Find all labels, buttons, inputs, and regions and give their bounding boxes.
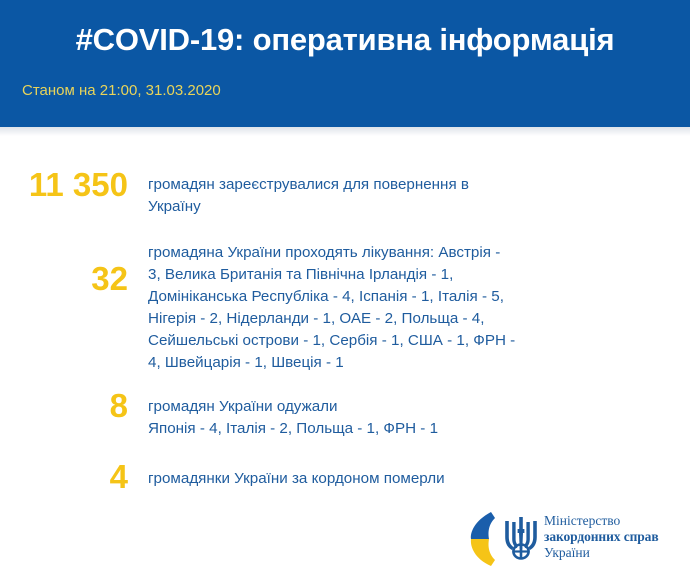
stat-line: громадян зареєструвалися для повернення … [148,174,672,196]
page-title: #COVID-19: оперативна інформація [0,22,690,58]
stat-line: Японія - 4, Італія - 2, Польща - 1, ФРН … [148,418,672,440]
stat-line: 4, Швейцарія - 1, Швеція - 1 [148,352,672,374]
mfa-logo-line-1: Міністерство [544,513,684,529]
stat-line: громадяна України проходять лікування: А… [148,242,672,264]
mfa-logo: Міністерство закордонних справ України [466,507,682,573]
stat-row: 11 350 громадян зареєструвалися для пове… [0,174,690,218]
ukraine-flag-arc-icon [466,509,500,569]
stat-text-died: громадянки України за кордоном померли [148,468,672,490]
stats-list: 11 350 громадян зареєструвалися для пове… [0,140,690,492]
stat-line: громадян України одужали [148,396,672,418]
banner-shadow-divider [0,127,690,136]
stat-line: 3, Велика Британія та Північна Ірландія … [148,264,672,286]
stat-line: Домініканська Республіка - 4, Іспанія - … [148,286,672,308]
mfa-logo-text: Міністерство закордонних справ України [544,513,684,561]
stat-text-recovered: громадян України одужали Японія - 4, Іта… [148,396,672,440]
stat-row: 8 громадян України одужали Японія - 4, І… [0,396,690,440]
timestamp-label: Станом на 21:00, 31.03.2020 [22,82,221,99]
stat-row: 4 громадянки України за кордоном померли [0,468,690,492]
header-banner: #COVID-19: оперативна інформація Станом … [0,0,690,127]
stat-line: Нігерія - 2, Нідерланди - 1, ОАЕ - 2, По… [148,308,672,330]
stat-text-registered: громадян зареєструвалися для повернення … [148,174,672,218]
mfa-logo-line-3: України [544,545,684,561]
stat-line: Сейшельські острови - 1, Сербія - 1, США… [148,330,672,352]
mfa-logo-line-2: закордонних справ [544,529,684,545]
stat-number-registered: 11 350 [0,170,128,200]
stat-text-treatment: громадяна України проходять лікування: А… [148,242,672,374]
stat-number-treatment: 32 [0,264,128,294]
stat-number-recovered: 8 [0,391,128,421]
stat-line: Україну [148,196,672,218]
ukraine-tryzub-icon [502,515,540,561]
stat-row: 32 громадяна України проходять лікування… [0,242,690,374]
stat-number-died: 4 [0,462,128,492]
stat-line: громадянки України за кордоном померли [148,468,672,490]
